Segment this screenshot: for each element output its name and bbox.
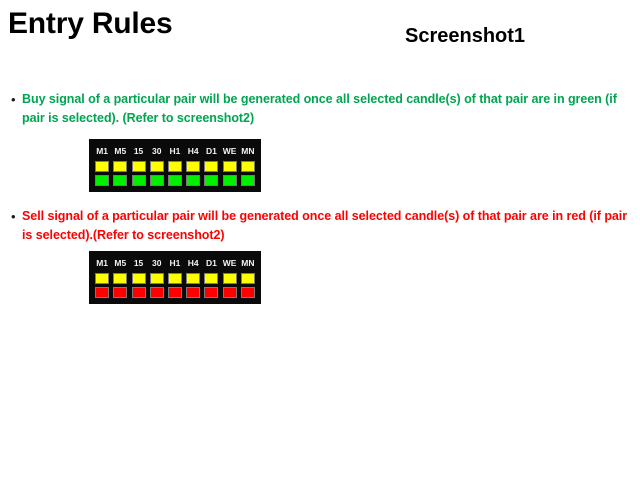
timeframe-label-h1: H1 [166,146,184,157]
page-title: Entry Rules [8,6,173,42]
indicator-cell-h1[interactable] [166,175,184,186]
timeframe-label-h1: H1 [166,258,184,269]
indicator-cell-30[interactable] [148,175,166,186]
status-square-yellow [113,273,127,284]
indicator-row-lower [93,287,257,298]
status-square-green [241,175,255,186]
status-square-red [168,287,182,298]
status-square-green [168,175,182,186]
timeframe-label-15: 15 [129,258,147,269]
indicator-cell-m5[interactable] [111,161,129,172]
bullet-text-sell-signal: Sell signal of a particular pair will be… [22,207,632,245]
indicator-cell-mn[interactable] [239,175,257,186]
timeframe-label-h4: H4 [184,258,202,269]
status-square-yellow [223,161,237,172]
indicator-row-upper [93,161,257,172]
timeframe-label-mn: MN [239,146,257,157]
indicator-cell-m5[interactable] [111,175,129,186]
bullet-item-sell-signal: • Sell signal of a particular pair will … [8,207,632,245]
bullet-item-buy-signal: • Buy signal of a particular pair will b… [8,90,632,128]
status-square-yellow [132,161,146,172]
indicator-cell-we[interactable] [221,161,239,172]
timeframe-label-row: M1 M5 15 30 H1 H4 D1 WE MN [93,144,257,158]
status-square-red [186,287,200,298]
status-square-yellow [186,161,200,172]
indicator-cell-15[interactable] [129,175,147,186]
bullet-dot-icon: • [8,90,22,109]
status-square-red [95,287,109,298]
indicator-cell-m1[interactable] [93,287,111,298]
indicator-cell-h4[interactable] [184,287,202,298]
indicator-cell-d1[interactable] [202,273,220,284]
timeframe-label-30: 30 [148,258,166,269]
indicator-cell-30[interactable] [148,287,166,298]
indicator-cell-h4[interactable] [184,175,202,186]
status-square-yellow [132,273,146,284]
indicator-row-lower [93,175,257,186]
timeframe-label-30: 30 [148,146,166,157]
screenshot-heading: Screenshot1 [405,24,525,48]
indicator-cell-mn[interactable] [239,161,257,172]
timeframe-label-d1: D1 [202,146,220,157]
indicator-panel-sell: M1 M5 15 30 H1 H4 D1 WE MN [89,251,261,304]
status-square-red [204,287,218,298]
status-square-green [113,175,127,186]
status-square-red [132,287,146,298]
timeframe-label-we: WE [221,146,239,157]
timeframe-label-h4: H4 [184,146,202,157]
status-square-green [186,175,200,186]
status-square-green [223,175,237,186]
timeframe-label-m5: M5 [111,258,129,269]
status-square-green [150,175,164,186]
status-square-green [132,175,146,186]
indicator-cell-h4[interactable] [184,161,202,172]
indicator-row-upper [93,273,257,284]
indicator-cell-m5[interactable] [111,287,129,298]
indicator-cell-mn[interactable] [239,287,257,298]
indicator-cell-h4[interactable] [184,273,202,284]
indicator-cell-d1[interactable] [202,175,220,186]
status-square-yellow [168,161,182,172]
indicator-cell-30[interactable] [148,161,166,172]
bullet-text-buy-signal: Buy signal of a particular pair will be … [22,90,632,128]
bullet-dot-icon: • [8,207,22,226]
indicator-cell-m1[interactable] [93,175,111,186]
timeframe-label-mn: MN [239,258,257,269]
status-square-red [223,287,237,298]
status-square-red [241,287,255,298]
indicator-cell-m1[interactable] [93,161,111,172]
status-square-yellow [241,161,255,172]
status-square-green [204,175,218,186]
status-square-red [113,287,127,298]
timeframe-label-we: WE [221,258,239,269]
status-square-yellow [150,161,164,172]
indicator-cell-15[interactable] [129,273,147,284]
status-square-yellow [95,161,109,172]
timeframe-label-m1: M1 [93,146,111,157]
status-square-green [95,175,109,186]
indicator-cell-we[interactable] [221,175,239,186]
timeframe-label-m1: M1 [93,258,111,269]
timeframe-label-d1: D1 [202,258,220,269]
indicator-cell-we[interactable] [221,287,239,298]
status-square-yellow [186,273,200,284]
indicator-cell-15[interactable] [129,161,147,172]
timeframe-label-row: M1 M5 15 30 H1 H4 D1 WE MN [93,256,257,270]
indicator-cell-h1[interactable] [166,273,184,284]
status-square-yellow [150,273,164,284]
indicator-cell-h1[interactable] [166,161,184,172]
indicator-cell-d1[interactable] [202,161,220,172]
status-square-yellow [95,273,109,284]
timeframe-label-15: 15 [129,146,147,157]
indicator-cell-mn[interactable] [239,273,257,284]
indicator-cell-30[interactable] [148,273,166,284]
presentation-slide: Entry Rules Screenshot1 • Buy signal of … [0,0,640,480]
indicator-cell-m1[interactable] [93,273,111,284]
indicator-cell-d1[interactable] [202,287,220,298]
indicator-cell-m5[interactable] [111,273,129,284]
indicator-panel-buy: M1 M5 15 30 H1 H4 D1 WE MN [89,139,261,192]
status-square-yellow [204,273,218,284]
timeframe-label-m5: M5 [111,146,129,157]
status-square-yellow [223,273,237,284]
status-square-yellow [113,161,127,172]
indicator-cell-15[interactable] [129,287,147,298]
status-square-yellow [204,161,218,172]
status-square-yellow [168,273,182,284]
status-square-red [150,287,164,298]
status-square-yellow [241,273,255,284]
indicator-cell-h1[interactable] [166,287,184,298]
indicator-cell-we[interactable] [221,273,239,284]
